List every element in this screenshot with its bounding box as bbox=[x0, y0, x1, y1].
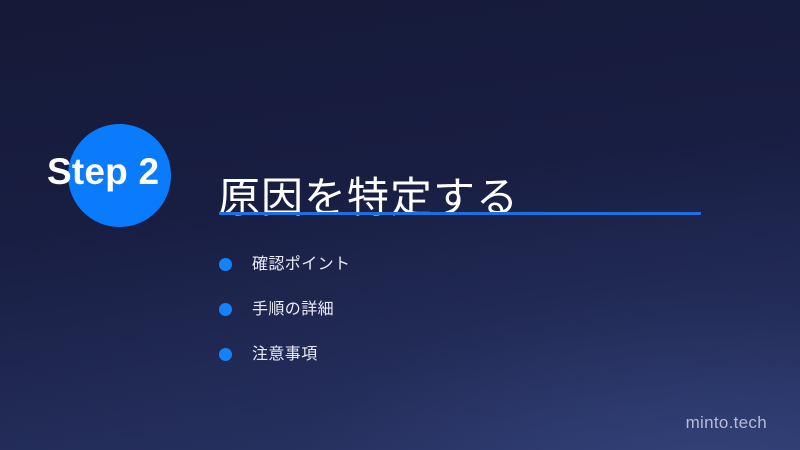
bullet-list: 確認ポイント 手順の詳細 注意事項 bbox=[219, 242, 350, 377]
bullet-label: 手順の詳細 bbox=[252, 302, 334, 318]
list-item: 注意事項 bbox=[219, 332, 350, 377]
bullet-label: 確認ポイント bbox=[252, 257, 350, 273]
list-item: 手順の詳細 bbox=[219, 287, 350, 332]
bullet-dot-icon bbox=[219, 258, 232, 271]
title-divider bbox=[219, 212, 701, 215]
list-item: 確認ポイント bbox=[219, 242, 350, 287]
footer-watermark: minto.tech bbox=[686, 414, 767, 431]
bullet-label: 注意事項 bbox=[252, 347, 318, 363]
presentation-slide: Step 2 原因を特定する 確認ポイント 手順の詳細 注意事項 minto.t… bbox=[0, 0, 800, 450]
bullet-dot-icon bbox=[219, 303, 232, 316]
bullet-dot-icon bbox=[219, 348, 232, 361]
step-badge-label: Step 2 bbox=[47, 153, 159, 190]
